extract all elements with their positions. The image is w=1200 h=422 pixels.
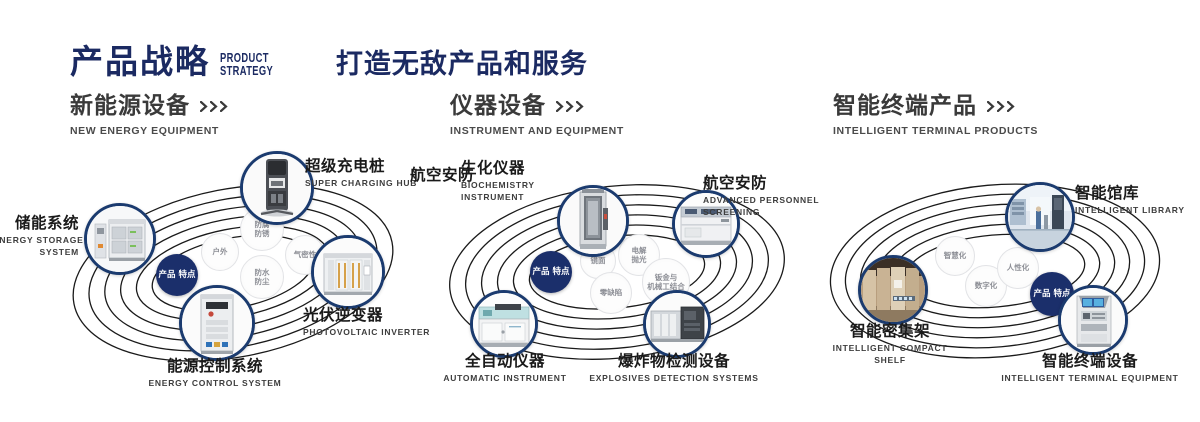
node-intelligent-library[interactable] [1005,182,1075,252]
node-energy-control-system[interactable] [179,285,255,361]
node-energy-storage-system[interactable] [84,203,156,275]
chevron-right-icon [556,101,585,112]
node-label-en-line1: ENERGY CONTROL SYSTEM [90,378,340,389]
feature-line1: 电解 [632,246,647,255]
node-automatic-instrument[interactable] [470,290,538,358]
node-label-cn: 航空安防 [703,175,819,193]
automatic-analyzer-icon [473,293,535,355]
section-title-en: INSTRUMENT AND EQUIPMENT [450,125,624,137]
feature-line1: 零缺陷 [600,288,623,297]
feature-line2: 抛光 [632,255,647,264]
core-line1: 产品 [1034,289,1051,299]
section-header-instrument: 仪器设备 INSTRUMENT AND EQUIPMENT [450,95,624,137]
page-title: 产品战略 [70,45,210,78]
core-line2: 特点 [552,267,569,277]
node-label-energy-storage-system: 储能系统 ENERGY STORAGE SYSTEM [0,215,79,258]
control-cabinet-icon [182,288,252,358]
node-label-en-line1: INTELLIGENT TERMINAL EQUIPMENT [990,373,1190,384]
cluster-instrument: 产品 特点 镜面 电解 抛光 零缺陷 钣金与 机械工结合 航空安防 [425,155,805,390]
node-label-en-line2: SCREENING [703,207,819,218]
node-label-cn: 储能系统 [0,215,79,233]
section-title-cn: 智能终端产品 [833,95,977,118]
node-label-en-line1: INTELLIGENT LIBRARY [1075,205,1185,216]
feature-bubble: 户外 [201,233,239,271]
node-label-cn: 能源控制系统 [90,358,340,376]
node-label-intelligent-compact-shelf: 智能密集架 INTELLIGENT COMPACT SHELF [790,323,990,366]
cluster-intelligent-terminal: 智慧化 数字化 人性化 产品 特点 [810,155,1190,390]
library-room-icon [1008,185,1072,249]
pv-inverter-icon [314,238,382,306]
energy-storage-cabinet-icon [87,206,153,272]
feature-line2: 防尘 [255,277,270,286]
section-header-new-energy: 新能源设备 NEW ENERGY EQUIPMENT [70,95,229,137]
feature-line1: 镜面 [591,256,606,265]
charging-pile-icon [243,154,311,222]
page-title-en-line2: STRATEGY [220,64,273,77]
node-label-cn: 智能馆库 [1075,185,1185,203]
node-label-en-line1: BIOCHEMISTRY [461,180,535,191]
feature-line1: 防水 [255,268,270,277]
node-label-en-line2: SHELF [790,355,990,366]
node-label-en-line1: EXPLOSIVES DETECTION SYSTEMS [574,373,774,384]
node-biochemistry-instrument[interactable] [557,185,629,257]
node-label-en-line1: PHOTOVOLTAIC INVERTER [303,327,430,338]
feature-bubble: 智慧化 [935,236,975,276]
node-label-en-line2: INSTRUMENT [461,192,535,203]
security-scanner-icon [560,188,626,254]
node-label-biochemistry-instrument: 生化仪器 BIOCHEMISTRY INSTRUMENT [461,160,535,203]
feature-line1: 户外 [213,247,228,256]
node-label-advanced-personnel-screening: 航空安防 ADVANCED PERSONNEL SCREENING [703,175,819,218]
core-line2: 特点 [178,270,195,280]
chevron-right-icon [200,101,229,112]
feature-line2: 防锈 [255,229,270,238]
section-header-intelligent-terminal: 智能终端产品 INTELLIGENT TERMINAL PRODUCTS [833,95,1038,137]
node-explosives-detection-systems[interactable] [643,290,711,358]
core-line1: 产品 [533,267,550,277]
section-title-cn: 仪器设备 [450,95,546,118]
explosives-detector-icon [646,293,708,355]
section-title-cn: 新能源设备 [70,95,190,118]
node-label-intelligent-terminal-equipment: 智能终端设备 INTELLIGENT TERMINAL EQUIPMENT [990,353,1190,383]
feature-line1: 人性化 [1007,263,1030,272]
node-label-automatic-instrument: 全自动仪器 AUTOMATIC INSTRUMENT [410,353,600,383]
node-label-en-line2: SYSTEM [0,247,79,258]
section-title-en: INTELLIGENT TERMINAL PRODUCTS [833,125,1038,137]
node-label-cn: 智能密集架 [790,323,990,341]
node-label-en-line1: AUTOMATIC INSTRUMENT [410,373,600,384]
node-label-cn: 生化仪器 [461,160,535,178]
node-label-cn: 智能终端设备 [990,353,1190,371]
core-line1: 产品 [159,270,176,280]
node-label-photovoltaic-inverter: 光伏逆变器 PHOTOVOLTAIC INVERTER [303,307,430,337]
feature-line1: 钣金与 [647,273,685,282]
page-header: 产品战略 PRODUCT STRATEGY 打造无敌产品和服务 [70,26,588,78]
node-label-explosives-detection-systems: 爆炸物检测设备 EXPLOSIVES DETECTION SYSTEMS [574,353,774,383]
node-label-cn: 光伏逆变器 [303,307,430,325]
node-label-intelligent-library: 智能馆库 INTELLIGENT LIBRARY [1075,185,1185,215]
node-label-energy-control-system: 能源控制系统 ENERGY CONTROL SYSTEM [90,358,340,388]
node-intelligent-compact-shelf[interactable] [858,255,928,325]
node-label-en-line1: ENERGY STORAGE [0,235,79,246]
terminal-kiosk-icon [1061,288,1125,352]
page-title-en: PRODUCT STRATEGY [220,51,273,77]
cluster-new-energy: 产品 特点 户外 防腐 防锈 防水 防尘 气密性 [55,155,425,385]
compact-shelf-icon [861,258,925,322]
node-photovoltaic-inverter[interactable] [311,235,385,309]
node-label-en-line1: ADVANCED PERSONNEL [703,195,819,206]
page-subtitle: 打造无敌产品和服务 [336,51,588,78]
section-title-en: NEW ENERGY EQUIPMENT [70,125,229,137]
node-label-en-line1: SUPER CHARGING HUB [305,178,417,189]
core-bubble-product-features: 产品 特点 [530,251,572,293]
node-label-cn: 全自动仪器 [410,353,600,371]
product-strategy-infographic: 产品战略 PRODUCT STRATEGY 打造无敌产品和服务 新能源设备 NE… [0,0,1200,422]
node-label-super-charging-hub: 超级充电桩 SUPER CHARGING HUB [305,158,417,188]
feature-line1: 智慧化 [944,251,967,260]
node-label-cn: 超级充电桩 [305,158,417,176]
node-label-en-line1: INTELLIGENT COMPACT [790,343,990,354]
chevron-right-icon [987,101,1016,112]
node-label-cn: 爆炸物检测设备 [574,353,774,371]
feature-line1: 数字化 [975,281,998,290]
feature-bubble: 零缺陷 [590,272,632,314]
node-super-charging-hub[interactable] [240,151,314,225]
node-intelligent-terminal-equipment[interactable] [1058,285,1128,355]
